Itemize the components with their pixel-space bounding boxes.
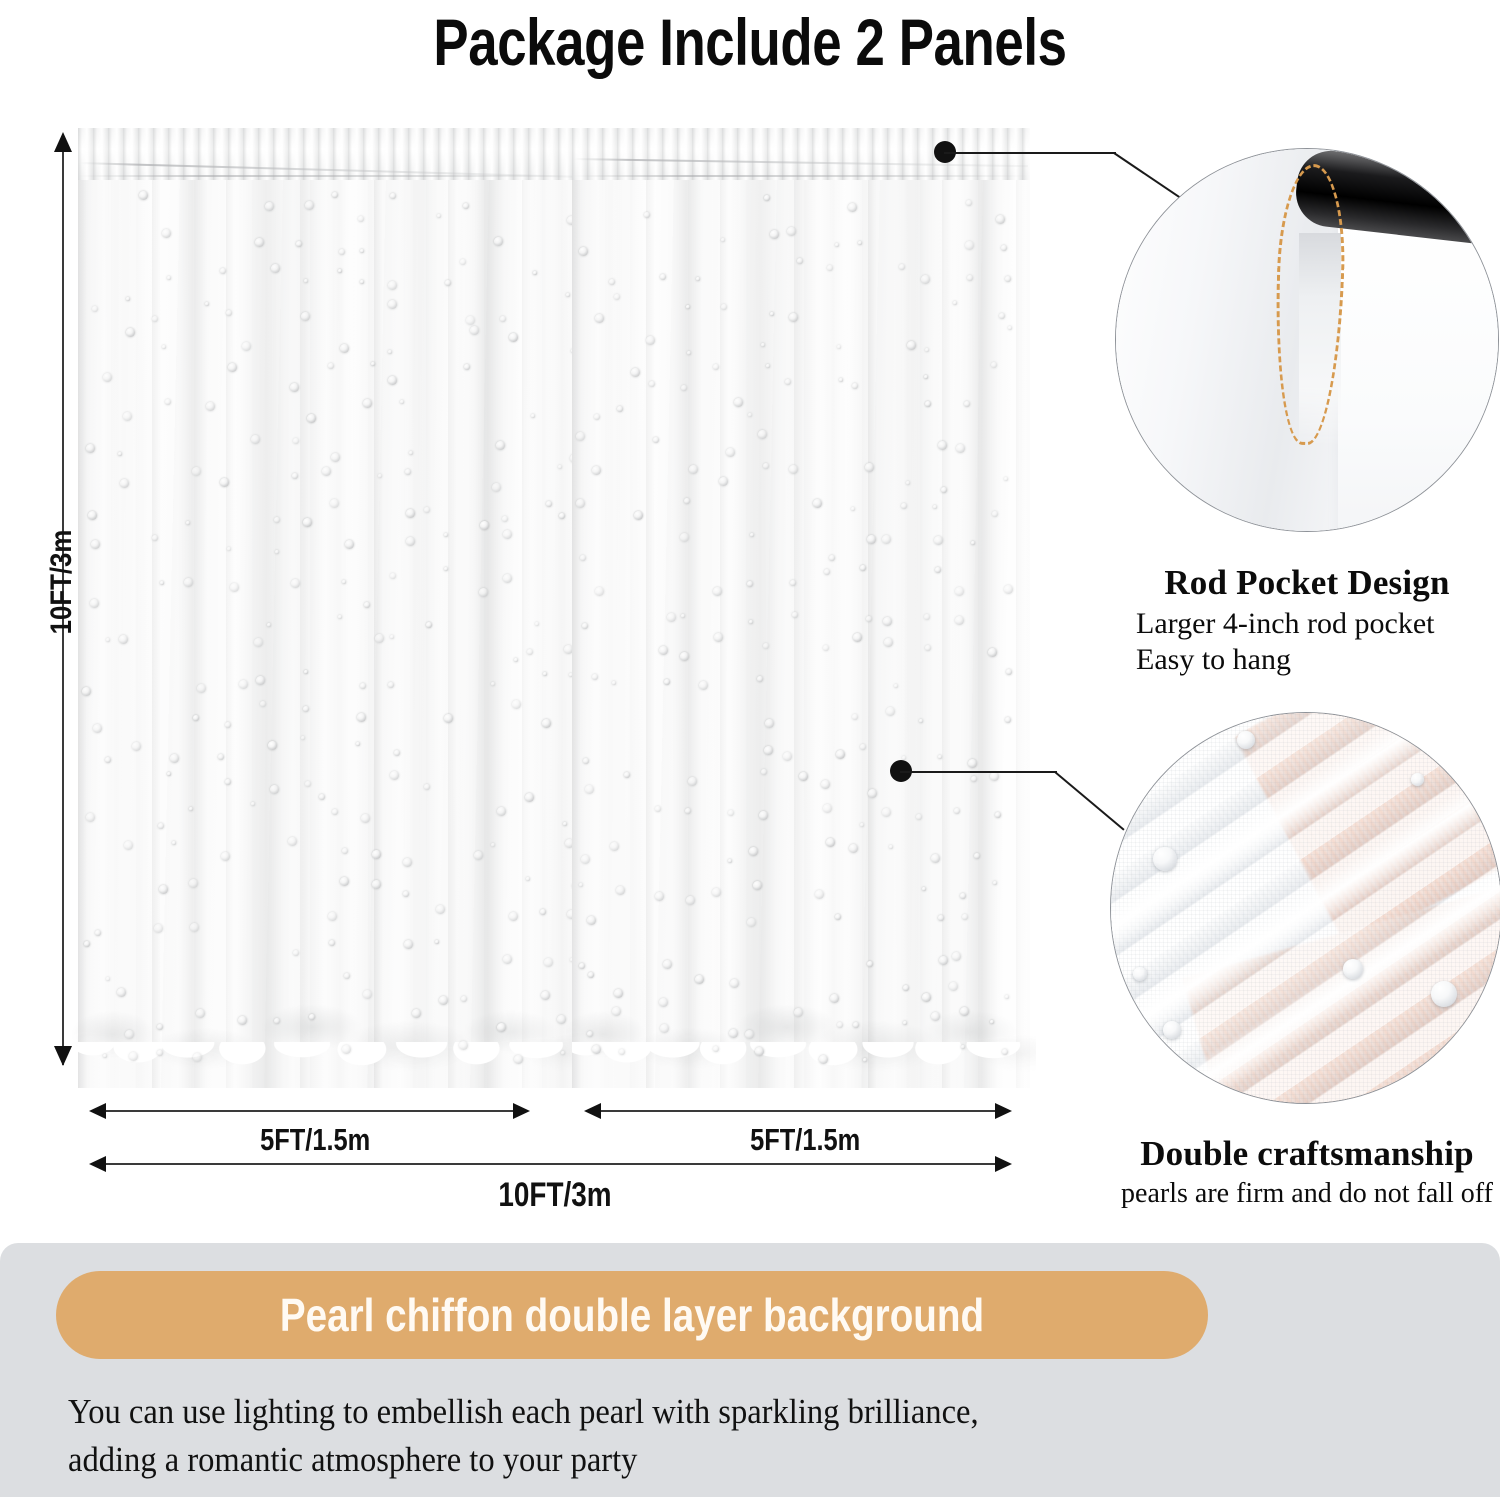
pearl xyxy=(531,414,535,418)
pearl xyxy=(770,312,774,316)
footer-banner: Pearl chiffon double layer background xyxy=(56,1271,1208,1359)
pearl xyxy=(761,343,765,347)
pearl xyxy=(84,941,90,947)
pearl xyxy=(1004,477,1008,481)
pearl xyxy=(747,918,756,927)
pearl xyxy=(190,923,199,932)
pearl xyxy=(157,1024,163,1030)
pearl xyxy=(867,535,876,544)
pearl xyxy=(758,430,767,439)
pearl xyxy=(587,916,596,925)
pearl xyxy=(761,769,767,775)
pearl xyxy=(712,888,721,897)
pearl xyxy=(830,994,839,1003)
pearl xyxy=(292,473,298,479)
pearl xyxy=(330,499,339,508)
pearl xyxy=(157,1050,163,1056)
pearl xyxy=(526,877,530,881)
pearl xyxy=(170,754,179,763)
pearl xyxy=(460,259,466,265)
pearl xyxy=(103,1054,107,1058)
pearl xyxy=(293,438,299,444)
pearl xyxy=(293,950,299,956)
inset-circle-rod-pocket xyxy=(1115,148,1499,532)
pearl xyxy=(345,540,354,549)
pearl xyxy=(558,465,562,469)
pearl xyxy=(356,742,360,746)
pearl xyxy=(921,275,930,284)
pearl xyxy=(860,565,866,571)
pooled-hem-left xyxy=(72,972,582,1092)
pearl xyxy=(576,432,585,441)
pearl xyxy=(274,1018,280,1024)
pearl xyxy=(388,281,397,290)
pearl xyxy=(952,952,961,961)
pearl xyxy=(159,885,168,894)
pearl xyxy=(375,634,384,643)
pearl xyxy=(745,1030,754,1039)
pearl xyxy=(925,645,931,651)
pearl xyxy=(251,802,255,806)
pearl xyxy=(388,376,397,385)
pearl xyxy=(118,452,122,456)
pearl xyxy=(580,555,586,561)
pearl xyxy=(866,616,872,622)
pearl xyxy=(238,1016,247,1025)
pearl xyxy=(123,412,132,421)
pearl xyxy=(1006,669,1012,675)
pearl xyxy=(542,719,551,728)
pearl xyxy=(853,633,862,642)
pearl xyxy=(444,567,448,571)
pearl xyxy=(848,203,857,212)
footer-description: You can use lighting to embellish each p… xyxy=(68,1388,1408,1484)
pearl xyxy=(340,344,349,353)
pearl xyxy=(585,785,594,794)
pearl xyxy=(120,479,129,488)
pearl xyxy=(595,587,604,596)
pearl xyxy=(995,812,1001,818)
pearl xyxy=(953,301,957,305)
callout-text-craftsmanship: Double craftsmanship pearls are firm and… xyxy=(1110,1133,1500,1213)
pearl xyxy=(358,216,364,222)
pearl xyxy=(492,483,501,492)
pearl xyxy=(470,326,479,335)
pearl xyxy=(86,813,95,822)
pearl xyxy=(616,886,625,895)
pearl xyxy=(525,793,534,802)
pearl xyxy=(360,683,366,689)
pearl xyxy=(205,302,209,306)
pearl xyxy=(388,300,397,309)
pearl xyxy=(561,1051,565,1055)
pearl xyxy=(390,771,399,780)
pearl xyxy=(372,880,381,889)
pearl xyxy=(765,719,774,728)
pearl xyxy=(815,890,824,899)
left-width-dimension-line xyxy=(105,1110,525,1112)
pearl xyxy=(331,453,340,462)
drape-shading-right xyxy=(572,128,1030,1088)
pearl xyxy=(230,583,239,592)
pearl xyxy=(931,854,940,863)
right-width-label: 5FT/1.5m xyxy=(655,1122,955,1158)
inset-rod-fabric-right xyxy=(1338,218,1499,532)
pearl xyxy=(770,230,779,239)
pearl xyxy=(291,579,300,588)
pearl xyxy=(444,714,453,723)
pearl xyxy=(730,979,739,988)
pearl xyxy=(274,517,280,523)
callout-body-rod-pocket: Larger 4-inch rod pocket Easy to hang xyxy=(1136,606,1500,678)
pearl xyxy=(463,203,469,209)
pearl xyxy=(660,1024,669,1033)
pearl xyxy=(189,807,193,811)
curtain-panel-right xyxy=(572,128,1030,1088)
pearl xyxy=(863,1058,867,1062)
pearl xyxy=(579,883,583,887)
inset-pearl xyxy=(1411,773,1424,786)
pearl xyxy=(267,623,271,627)
pearl xyxy=(479,588,488,597)
pearl xyxy=(338,615,342,619)
pearl xyxy=(583,758,589,764)
pearl xyxy=(92,306,98,312)
pearl xyxy=(126,328,135,337)
pearl xyxy=(394,750,400,756)
pearl xyxy=(681,385,687,391)
right-width-dimension-line xyxy=(600,1110,1005,1112)
pearl xyxy=(1001,245,1007,251)
pearl xyxy=(290,383,299,392)
pearl xyxy=(566,293,570,297)
pearl xyxy=(361,814,370,823)
rod-pocket-band-right xyxy=(572,128,1030,180)
pearl xyxy=(167,772,171,776)
pearl xyxy=(922,993,931,1002)
pearl xyxy=(714,633,723,642)
pearl xyxy=(95,930,101,936)
pearl xyxy=(559,513,565,519)
inset-pearl xyxy=(1431,981,1457,1007)
pearl xyxy=(444,533,448,537)
pearl xyxy=(713,1046,719,1052)
curtain-panel-left xyxy=(78,128,576,1088)
pearl xyxy=(894,684,898,688)
pearl xyxy=(922,887,926,891)
callout-line-2: Easy to hang xyxy=(1136,642,1500,678)
rod-pocket-band-left xyxy=(78,128,576,180)
pearl xyxy=(686,305,690,309)
pearl xyxy=(783,752,792,761)
pearl xyxy=(275,550,279,554)
pearl xyxy=(971,776,977,782)
pooled-hem-right xyxy=(566,972,1036,1092)
pearl xyxy=(435,940,439,944)
pearl xyxy=(228,363,237,372)
pearl xyxy=(129,1052,138,1061)
pearl xyxy=(955,616,964,625)
pearl xyxy=(617,406,623,412)
pearl xyxy=(728,859,732,863)
pearl xyxy=(631,368,640,377)
pearl xyxy=(390,635,394,639)
pearl xyxy=(999,313,1005,319)
pearl xyxy=(497,807,506,816)
hem-edge-left xyxy=(78,1042,576,1088)
pearl xyxy=(357,713,366,722)
pearl xyxy=(882,808,891,817)
pearl xyxy=(974,853,980,859)
pearl xyxy=(1004,585,1013,594)
pearl xyxy=(239,680,248,689)
pearl xyxy=(390,193,396,199)
pearl xyxy=(764,195,770,201)
pearl xyxy=(882,535,891,544)
pearl xyxy=(426,622,432,628)
left-width-arrow-end-icon xyxy=(513,1103,530,1119)
pearl xyxy=(858,241,862,245)
pearl xyxy=(309,1014,315,1020)
callout-line-rod-pocket-h xyxy=(944,152,1116,154)
pearl xyxy=(699,681,708,690)
pearl xyxy=(1005,276,1011,282)
pearl xyxy=(329,940,335,946)
pearl xyxy=(260,701,266,707)
pearl xyxy=(689,465,698,474)
pearl xyxy=(960,893,966,899)
pearl xyxy=(868,789,877,798)
pearl xyxy=(404,940,413,949)
pearl xyxy=(193,1053,202,1062)
pearl xyxy=(139,191,148,200)
total-width-label: 10FT/3m xyxy=(405,1176,705,1215)
pearl xyxy=(931,1012,940,1021)
pearl xyxy=(819,1055,828,1064)
pearl xyxy=(592,1045,601,1054)
pearl xyxy=(406,537,415,546)
pearl xyxy=(439,996,448,1005)
pearl xyxy=(851,507,855,511)
pearl xyxy=(540,909,546,915)
pearl xyxy=(390,573,396,579)
pearl xyxy=(655,892,664,901)
pearl xyxy=(619,1049,625,1055)
pearl xyxy=(965,241,974,250)
pearl xyxy=(527,649,533,655)
pearl xyxy=(117,988,126,997)
pearl xyxy=(925,348,929,352)
pearl xyxy=(813,499,822,508)
pearl xyxy=(659,646,668,655)
callout-line-1: Larger 4-inch rod pocket xyxy=(1136,606,1500,642)
pearl xyxy=(579,963,585,969)
pearl xyxy=(990,1020,994,1024)
pearl xyxy=(961,1045,965,1049)
pearl xyxy=(514,658,518,662)
pearl xyxy=(332,192,338,198)
pearl xyxy=(301,312,310,321)
pearl xyxy=(1008,326,1012,330)
pearl xyxy=(206,402,215,411)
pearl xyxy=(503,530,512,539)
pearl xyxy=(827,265,833,271)
pearl xyxy=(991,362,997,368)
inset-pearl xyxy=(1237,731,1255,749)
pearl xyxy=(837,1022,843,1028)
pearl xyxy=(757,676,763,682)
pearl xyxy=(251,435,260,444)
pearl xyxy=(867,961,873,967)
pearl xyxy=(684,498,690,504)
pearl xyxy=(509,333,518,342)
callout-heading: Double craftsmanship xyxy=(1110,1133,1500,1175)
pearl xyxy=(960,1007,969,1016)
pearl xyxy=(609,279,615,285)
pearl xyxy=(192,467,201,476)
pearl xyxy=(592,466,601,475)
pearl xyxy=(681,614,685,618)
hem-edge-right xyxy=(572,1042,1030,1088)
pearl xyxy=(901,503,907,509)
pearl xyxy=(165,399,171,405)
pearl xyxy=(93,724,102,733)
pearl xyxy=(124,841,133,850)
pearl xyxy=(403,858,412,867)
pearl xyxy=(344,973,350,979)
pearl xyxy=(322,467,331,476)
pearl xyxy=(919,719,923,723)
pearl xyxy=(993,881,997,885)
inset-pearl xyxy=(1163,1021,1181,1039)
pearl xyxy=(270,785,279,794)
pearl xyxy=(424,507,430,513)
pearl xyxy=(86,444,95,453)
pearl xyxy=(103,373,112,382)
pearl xyxy=(653,437,659,443)
pearl xyxy=(749,620,753,624)
pearl xyxy=(938,915,944,921)
pearl xyxy=(332,809,338,815)
pearl xyxy=(265,202,274,211)
callout-line-craftsmanship-h xyxy=(900,771,1057,773)
pearl xyxy=(667,613,676,622)
pearl xyxy=(839,378,843,382)
pearl xyxy=(494,237,503,246)
pearl xyxy=(685,808,691,814)
pearl xyxy=(461,996,467,1002)
pearl xyxy=(403,891,409,897)
pearl xyxy=(319,794,325,800)
pearl xyxy=(91,540,100,549)
pearl xyxy=(388,350,392,354)
pearl xyxy=(342,1045,351,1054)
pearl xyxy=(852,383,858,389)
pearl xyxy=(491,843,495,847)
pearl xyxy=(634,511,643,520)
pearl xyxy=(588,972,594,978)
pearl xyxy=(466,316,475,325)
pearl xyxy=(480,521,489,530)
pearl xyxy=(162,345,166,349)
pearl xyxy=(721,238,725,242)
pearl xyxy=(500,316,506,322)
pearl xyxy=(503,955,512,964)
pearl xyxy=(821,780,830,789)
pearl xyxy=(533,271,537,275)
drape-shading-left xyxy=(78,128,576,1088)
pearl xyxy=(220,268,226,274)
height-arrow-bottom-icon xyxy=(54,1046,72,1066)
pearl xyxy=(328,363,334,369)
pearl xyxy=(687,351,691,355)
pearl xyxy=(226,310,232,316)
pearl xyxy=(884,638,893,647)
pearl xyxy=(824,569,830,575)
pearl xyxy=(924,375,928,379)
pearl xyxy=(614,989,623,998)
pearl xyxy=(1005,717,1011,723)
pearl xyxy=(713,364,719,370)
pearl xyxy=(644,212,650,218)
pearl xyxy=(659,998,668,1007)
pearl xyxy=(160,581,164,585)
pearl xyxy=(696,277,700,281)
pearl xyxy=(424,784,430,790)
pearl xyxy=(823,804,832,813)
pearl xyxy=(835,243,839,247)
pearl xyxy=(221,852,230,861)
pearl xyxy=(860,744,866,750)
pearl xyxy=(301,736,305,740)
pearl xyxy=(924,614,930,620)
callout-line-1: pearls are firm and do not fall off xyxy=(1110,1175,1500,1213)
pearl xyxy=(372,850,381,859)
right-width-arrow-end-icon xyxy=(995,1103,1012,1119)
pearl xyxy=(899,264,905,270)
pearl xyxy=(436,905,445,914)
pearl xyxy=(502,516,508,522)
pearl xyxy=(907,341,916,350)
product-diagram: 10FT/3m 5FT/1.5m 5FT/1.5m 10FT/3m xyxy=(0,0,1500,1240)
pearl xyxy=(789,313,798,322)
footer-description-line-2: adding a romantic atmosphere to your par… xyxy=(68,1436,1314,1484)
pearl xyxy=(405,469,411,475)
pearl xyxy=(663,960,672,969)
pearl xyxy=(378,474,382,478)
pearl xyxy=(158,823,164,829)
pearl xyxy=(749,847,758,856)
pearl xyxy=(967,275,973,281)
pearl xyxy=(197,684,206,693)
inset-pearl xyxy=(1153,847,1177,871)
pearl xyxy=(916,814,922,820)
pearl xyxy=(853,1022,859,1028)
pearl xyxy=(612,1007,621,1016)
pearl xyxy=(719,477,728,486)
pearl xyxy=(364,602,370,608)
pearl xyxy=(305,781,311,787)
pearl xyxy=(747,581,753,587)
pearl xyxy=(541,991,550,1000)
pearl xyxy=(106,638,110,642)
total-width-dimension-line xyxy=(105,1163,1005,1165)
pearl xyxy=(686,896,695,905)
pearl xyxy=(464,364,470,370)
pearl xyxy=(400,400,404,404)
pearl xyxy=(106,977,110,981)
pearl xyxy=(759,811,768,820)
